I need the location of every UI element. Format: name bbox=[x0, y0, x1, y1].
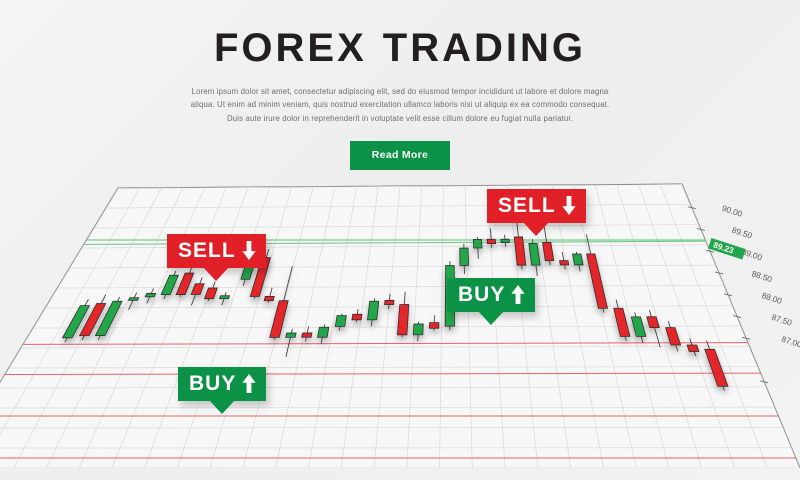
signal-tag-body: BUY bbox=[447, 278, 535, 312]
signal-tag-sell-1[interactable]: SELL bbox=[167, 234, 266, 268]
current-price-marker: 89.23 bbox=[708, 238, 746, 260]
price-axis-tick-label: 88.50 bbox=[751, 268, 774, 284]
hero-section: FOREXTRADING Lorem ipsum dolor sit amet,… bbox=[0, 0, 800, 170]
page-title: FOREXTRADING bbox=[0, 0, 800, 71]
read-more-button[interactable]: Read More bbox=[350, 141, 450, 170]
arrow-down-icon bbox=[241, 241, 257, 260]
signal-tag-body: SELL bbox=[167, 234, 266, 268]
signal-label: BUY bbox=[458, 284, 505, 305]
arrow-up-icon bbox=[241, 374, 257, 393]
arrow-down-icon bbox=[561, 196, 577, 215]
price-axis-tick-label: 87.00 bbox=[780, 334, 800, 350]
page-title-word-1: FOREX bbox=[214, 26, 367, 70]
cta-container: Read More bbox=[0, 141, 800, 170]
candlestick-chart[interactable]: 90.0089.5089.0088.5088.0087.5087.008689.… bbox=[0, 168, 800, 480]
page-title-word-2: TRADING bbox=[383, 26, 586, 70]
signal-tag-buy-2[interactable]: BUY bbox=[447, 278, 535, 312]
signal-pointer bbox=[203, 267, 229, 281]
hero-paragraph: Lorem ipsum dolor sit amet, consectetur … bbox=[190, 85, 610, 125]
signal-tag-sell-2[interactable]: SELL bbox=[487, 189, 586, 223]
price-axis-tick-label: 88.00 bbox=[760, 290, 783, 306]
signal-pointer bbox=[209, 400, 235, 414]
signal-label: BUY bbox=[189, 373, 236, 394]
price-axis-tick-label: 87.50 bbox=[770, 312, 793, 328]
price-axis-tick-label: 90.00 bbox=[721, 203, 744, 219]
signal-tag-buy-1[interactable]: BUY bbox=[178, 367, 266, 401]
price-axis-tick-label: 89.50 bbox=[731, 225, 754, 241]
signal-label: SELL bbox=[498, 195, 556, 216]
illustration-canvas: FOREXTRADING Lorem ipsum dolor sit amet,… bbox=[0, 0, 800, 480]
arrow-up-icon bbox=[510, 285, 526, 304]
signal-pointer bbox=[523, 222, 549, 236]
signal-pointer bbox=[478, 311, 504, 325]
signal-label: SELL bbox=[178, 240, 236, 261]
signal-tag-body: SELL bbox=[487, 189, 586, 223]
signal-tag-body: BUY bbox=[178, 367, 266, 401]
chart-svg: 90.0089.5089.0088.5088.0087.5087.008689.… bbox=[0, 168, 800, 480]
